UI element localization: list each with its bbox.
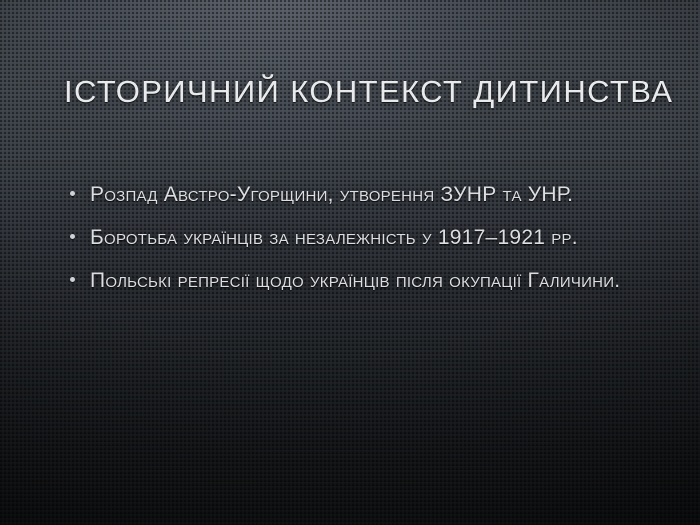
bullet-item-label: Боротьба українців за незалежність у 191… bbox=[90, 226, 578, 249]
slide-content: Історичний контекст дитинства Розпад Авс… bbox=[0, 0, 700, 525]
bullet-item-label: Польські репресії щодо українців після о… bbox=[90, 269, 620, 292]
bullet-item: Розпад Австро-Угорщини, утворення ЗУНР т… bbox=[64, 180, 634, 209]
bullet-item-label: Розпад Австро-Угорщини, утворення ЗУНР т… bbox=[90, 183, 573, 206]
bullet-item: Боротьба українців за незалежність у 191… bbox=[64, 223, 634, 252]
presentation-slide: Історичний контекст дитинства Розпад Авс… bbox=[0, 0, 700, 525]
slide-bullet-list: Розпад Австро-Угорщини, утворення ЗУНР т… bbox=[64, 180, 634, 295]
slide-title: Історичний контекст дитинства bbox=[64, 74, 644, 110]
bullet-item: Польські репресії щодо українців після о… bbox=[64, 266, 634, 295]
bullet-dot-icon bbox=[70, 234, 75, 239]
bullet-dot-icon bbox=[70, 277, 75, 282]
bullet-dot-icon bbox=[70, 191, 75, 196]
